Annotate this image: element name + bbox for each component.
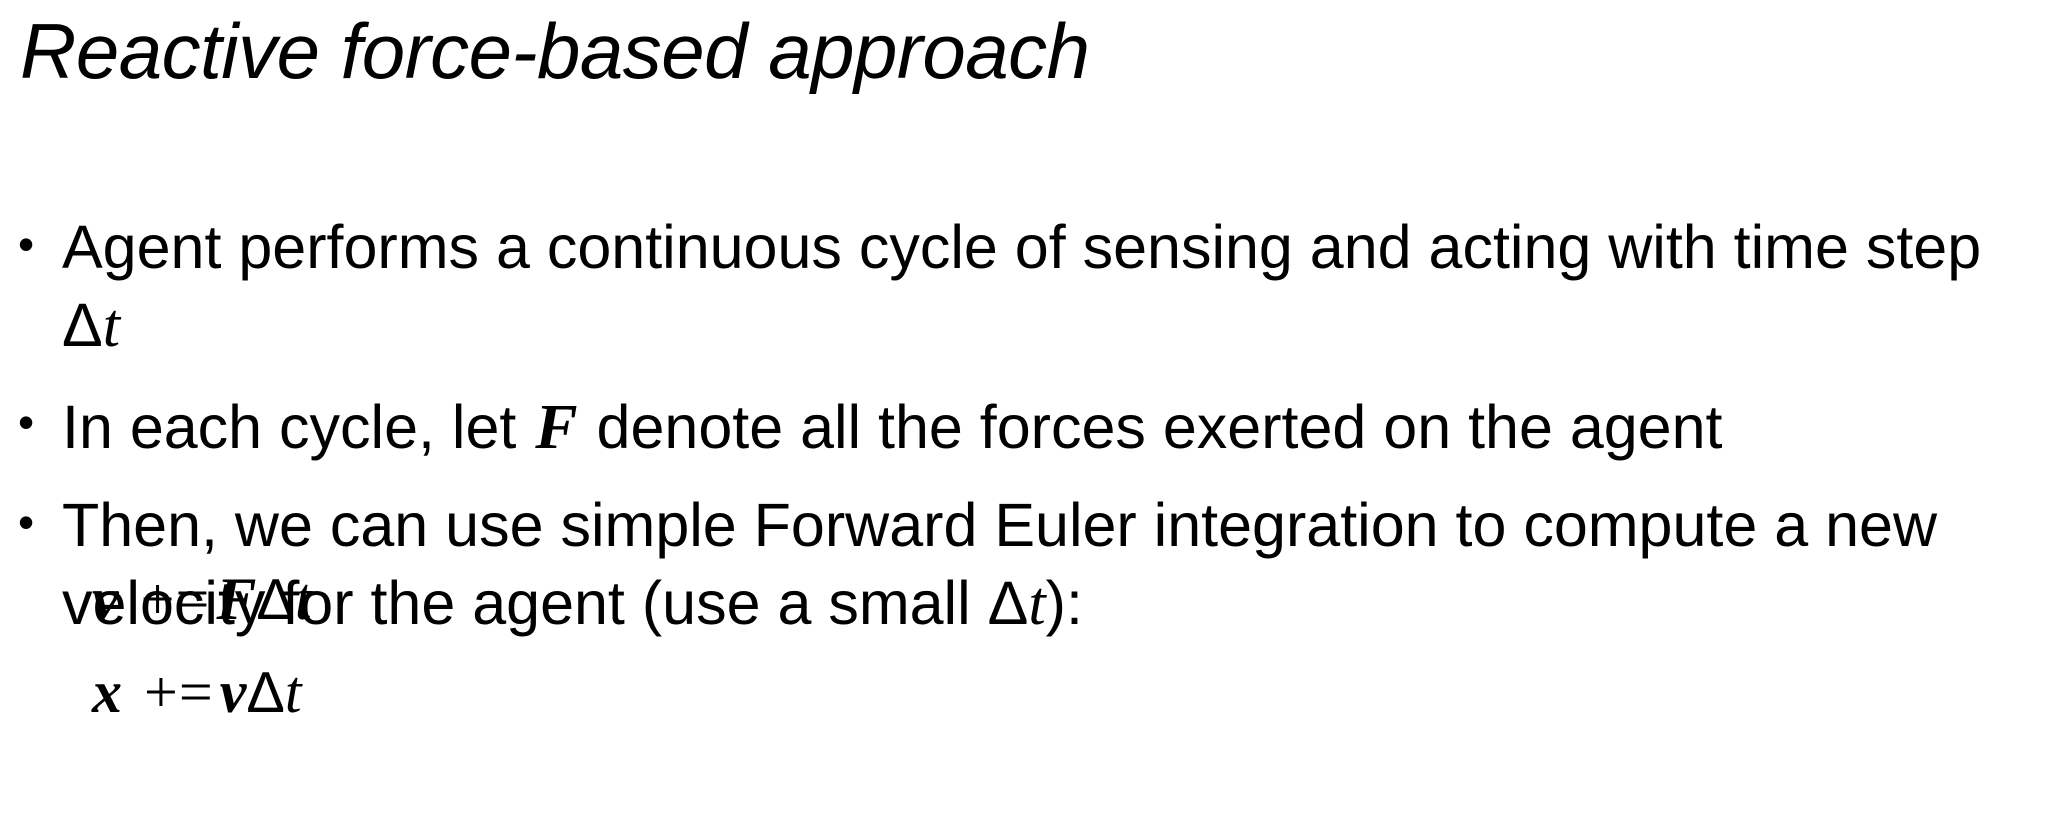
time-variable: t <box>295 566 312 632</box>
bullet-force-definition-text: In each cycle, let F denote all the forc… <box>62 386 2037 467</box>
position-vector-symbol: x <box>92 659 122 725</box>
time-variable: t <box>285 659 302 725</box>
plus-equals-operator: += <box>122 659 220 725</box>
delta-symbol: Δ <box>256 568 294 632</box>
plus-equals-operator: += <box>119 566 217 632</box>
bullet-sensing-cycle-text: Agent performs a continuous cycle of sen… <box>62 208 2037 367</box>
list-item: • Agent performs a continuous cycle of s… <box>0 208 2060 367</box>
velocity-vector-symbol: v <box>92 566 119 632</box>
equation-position-update: x+=vΔt <box>92 653 992 732</box>
bullet-segment-text: In each cycle, let <box>62 393 533 461</box>
force-vector-symbol: F <box>216 566 256 632</box>
time-variable: t <box>103 292 120 360</box>
bullet-marker-icon: • <box>18 208 80 281</box>
delta-symbol: Δ <box>246 661 284 725</box>
page-title: Reactive force-based approach <box>20 8 2040 95</box>
delta-symbol: Δ <box>62 291 103 359</box>
time-variable: t <box>1028 570 1045 638</box>
bullet-segment-text: Agent performs a continuous cycle of sen… <box>62 213 1981 281</box>
equation-velocity-update: v+=FΔt <box>92 560 992 639</box>
delta-symbol: Δ <box>988 569 1029 637</box>
bullet-marker-icon: • <box>18 486 80 559</box>
list-item: • In each cycle, let F denote all the fo… <box>0 386 2060 467</box>
equation-block: v+=FΔt x+=vΔt <box>92 560 992 732</box>
force-vector-symbol: F <box>533 391 579 462</box>
bullet-segment-text: denote all the forces exerted on the age… <box>580 393 1723 461</box>
bullet-segment-text: ): <box>1046 569 1083 637</box>
velocity-vector-symbol: v <box>220 659 247 725</box>
bullet-marker-icon: • <box>18 386 80 459</box>
slide: Reactive force-based approach • Agent pe… <box>0 0 2070 822</box>
